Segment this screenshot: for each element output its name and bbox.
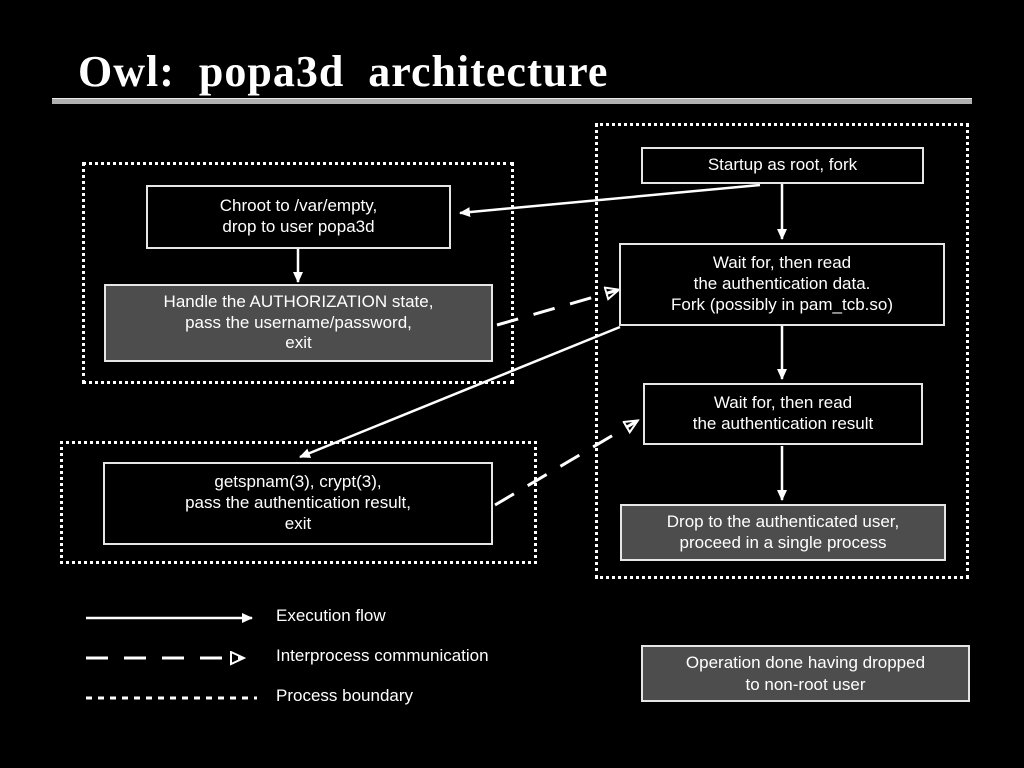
legend-execution-flow-label: Execution flow <box>276 606 386 626</box>
node-getspnam[interactable]: getspnam(3), crypt(3), pass the authenti… <box>103 462 493 545</box>
node-authorization[interactable]: Handle the AUTHORIZATION state, pass the… <box>104 284 493 362</box>
slide-canvas: Owl: popa3d architecture <box>0 0 1024 768</box>
node-startup[interactable]: Startup as root, fork <box>641 147 924 184</box>
legend-process-boundary-label: Process boundary <box>276 686 413 706</box>
ipc-authorization-to-authdata <box>497 290 618 325</box>
legend-ipc-label: Interprocess communication <box>276 646 489 666</box>
legend-shaded-note: Operation done having dropped to non-roo… <box>641 645 970 702</box>
node-auth-data[interactable]: Wait for, then read the authentication d… <box>619 243 945 326</box>
flow-startup-to-chroot <box>460 185 760 213</box>
node-chroot[interactable]: Chroot to /var/empty, drop to user popa3… <box>146 185 451 249</box>
node-drop-user[interactable]: Drop to the authenticated user, proceed … <box>620 504 946 561</box>
ipc-getspnam-to-authresult <box>495 421 637 505</box>
node-auth-result[interactable]: Wait for, then read the authentication r… <box>643 383 923 445</box>
